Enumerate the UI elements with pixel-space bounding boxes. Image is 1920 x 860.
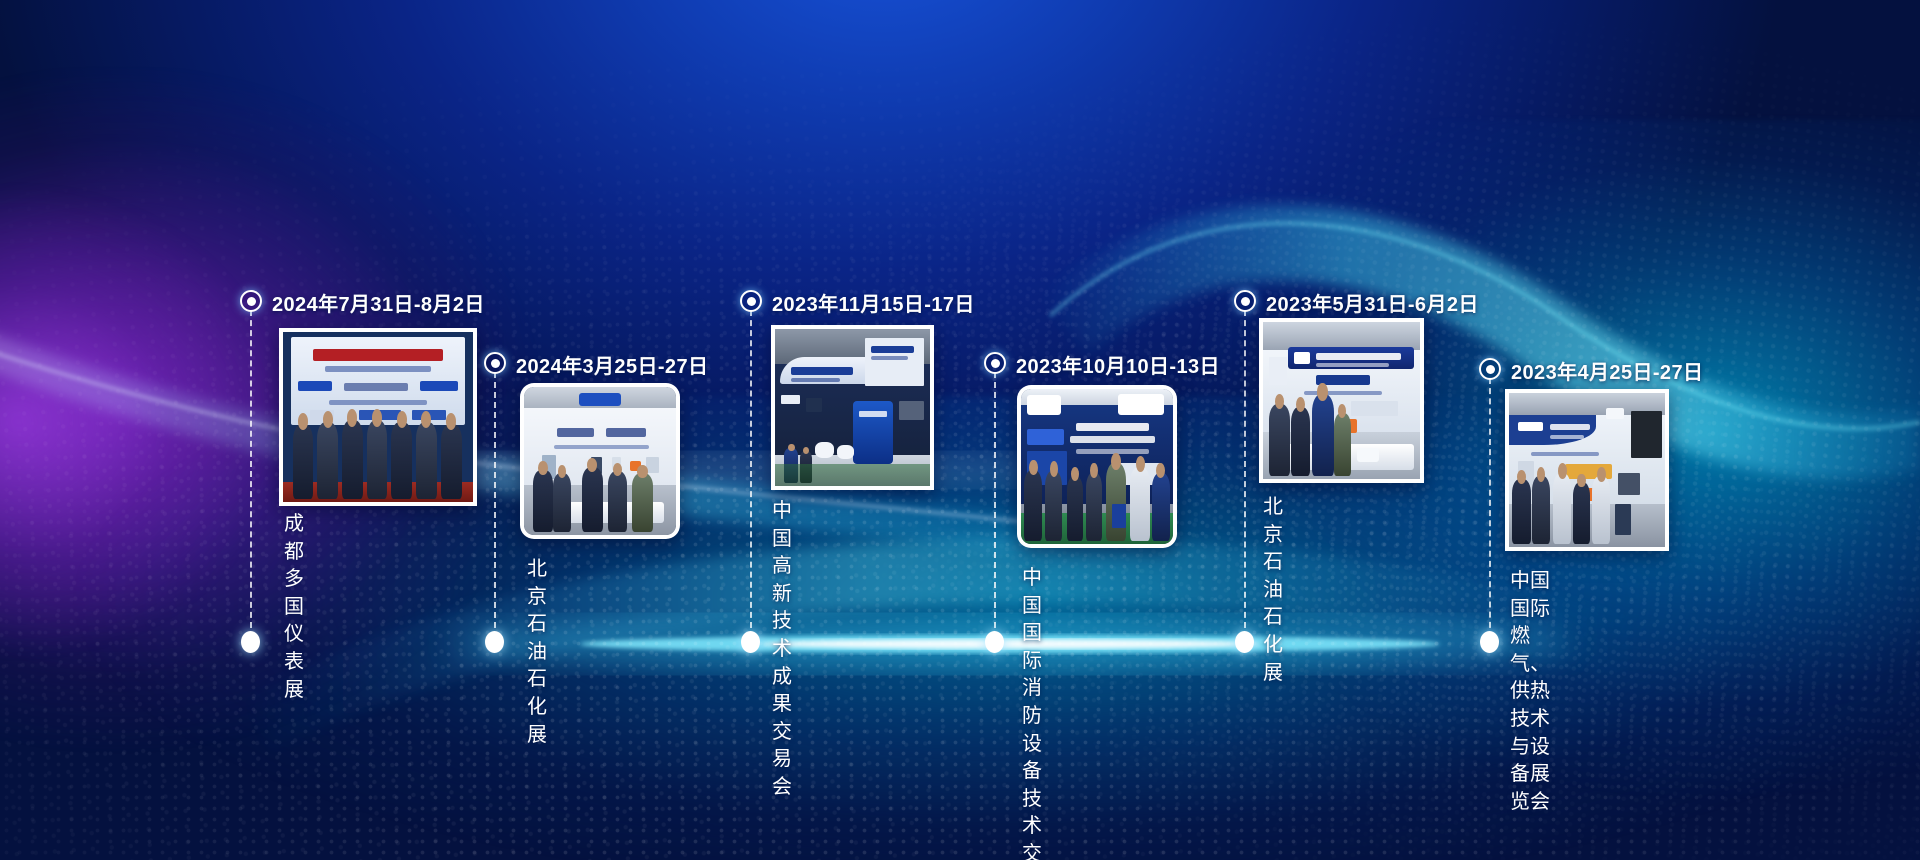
end-dot-icon (1480, 631, 1499, 653)
timeline-caption-1: 成都多国仪表展 (284, 511, 304, 704)
end-dot-icon (1235, 631, 1254, 653)
end-dot-icon (741, 631, 760, 653)
timeline-caption-6: 中国国际燃气、供热 技术与设备展览会 (1510, 568, 1550, 816)
connector-line-3 (750, 310, 752, 638)
connector-line-1 (250, 310, 252, 638)
timeline-date-6: 2023年4月25日-27日 (1511, 356, 1703, 385)
ring-dot-icon (984, 352, 1006, 374)
timeline-date-1: 2024年7月31日-8月2日 (272, 288, 485, 317)
ring-dot-icon (1234, 290, 1256, 312)
connector-line-2 (494, 372, 496, 638)
connector-line-6 (1489, 378, 1491, 638)
end-dot-icon (485, 631, 504, 653)
timeline-photo-2[interactable] (520, 383, 680, 539)
timeline-date-4: 2023年10月10日-13日 (1016, 350, 1220, 379)
timeline-photo-5[interactable] (1259, 318, 1424, 483)
timeline-graphic: 2024年7月31日-8月2日 (0, 0, 1920, 860)
ring-dot-icon (240, 290, 262, 312)
ring-dot-icon (484, 352, 506, 374)
timeline-date-2: 2024年3月25日-27日 (516, 350, 708, 379)
connector-line-4 (994, 372, 996, 638)
ring-dot-icon (1479, 358, 1501, 380)
timeline-caption-2: 北京石油石化展 (527, 556, 547, 749)
end-dot-icon (241, 631, 260, 653)
timeline-photo-4[interactable] (1017, 385, 1177, 548)
ring-dot-icon (740, 290, 762, 312)
timeline-photo-6[interactable] (1505, 389, 1669, 551)
timeline-caption-5: 北京石油石化展 (1263, 494, 1283, 687)
timeline-photo-3[interactable] (771, 325, 934, 490)
timeline: 2024年7月31日-8月2日 (0, 0, 1920, 860)
timeline-caption-4: 中国国际消防设备 技术交流展览会 (1022, 565, 1042, 860)
end-dot-icon (985, 631, 1004, 653)
timeline-date-5: 2023年5月31日-6月2日 (1266, 288, 1479, 317)
connector-line-5 (1244, 310, 1246, 638)
timeline-photo-1[interactable] (279, 328, 477, 506)
timeline-date-3: 2023年11月15日-17日 (772, 288, 975, 317)
timeline-caption-3: 中国高新技术 成果交易会 (772, 498, 792, 802)
